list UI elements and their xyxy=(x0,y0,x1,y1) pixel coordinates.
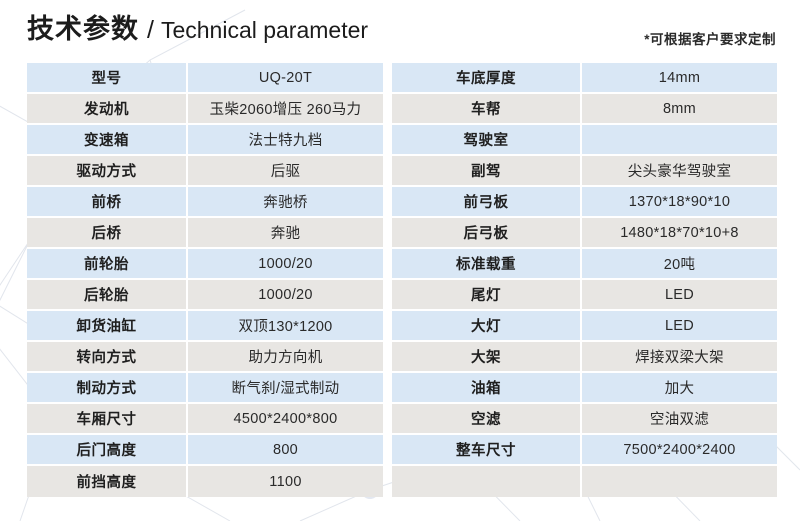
spec-value-cell: LED xyxy=(582,311,777,342)
spec-row: 整车尺寸7500*2400*2400 xyxy=(392,435,777,466)
spec-value-cell: 空油双滤 xyxy=(582,404,777,435)
spec-label-cell: 驱动方式 xyxy=(27,156,188,187)
spec-label-cell: 前桥 xyxy=(27,187,188,218)
spec-table-left-body: 型号UQ-20T发动机玉柴2060增压 260马力变速箱法士特九档驱动方式后驱前… xyxy=(27,63,383,497)
spec-row: 制动方式断气刹/湿式制动 xyxy=(27,373,383,404)
spec-label-cell: 后门高度 xyxy=(27,435,188,466)
spec-value-cell: 1100 xyxy=(188,466,383,497)
spec-label-cell: 后轮胎 xyxy=(27,280,188,311)
spec-value-cell: 1480*18*70*10+8 xyxy=(582,218,777,249)
spec-value-cell: 1000/20 xyxy=(188,249,383,280)
spec-label-cell: 转向方式 xyxy=(27,342,188,373)
spec-value-cell: 8mm xyxy=(582,94,777,125)
spec-row: 标准载重20吨 xyxy=(392,249,777,280)
spec-row: 发动机玉柴2060增压 260马力 xyxy=(27,94,383,125)
spec-value-cell: 14mm xyxy=(582,63,777,94)
spec-value-cell: 断气刹/湿式制动 xyxy=(188,373,383,404)
spec-row: 驱动方式后驱 xyxy=(27,156,383,187)
spec-label-cell: 变速箱 xyxy=(27,125,188,156)
spec-row: 尾灯LED xyxy=(392,280,777,311)
spec-label-cell: 发动机 xyxy=(27,94,188,125)
spec-table-right: 车底厚度14mm车帮8mm驾驶室副驾尖头豪华驾驶室前弓板1370*18*90*1… xyxy=(392,63,777,497)
spec-label-cell: 油箱 xyxy=(392,373,582,404)
spec-row: 后轮胎1000/20 xyxy=(27,280,383,311)
spec-row: 前挡高度1100 xyxy=(27,466,383,497)
spec-row: 后弓板1480*18*70*10+8 xyxy=(392,218,777,249)
spec-label-cell: 标准载重 xyxy=(392,249,582,280)
spec-value-cell: 800 xyxy=(188,435,383,466)
spec-row xyxy=(392,466,777,497)
spec-label-cell: 车厢尺寸 xyxy=(27,404,188,435)
spec-table-right-body: 车底厚度14mm车帮8mm驾驶室副驾尖头豪华驾驶室前弓板1370*18*90*1… xyxy=(392,63,777,497)
spec-label-cell: 副驾 xyxy=(392,156,582,187)
spec-value-cell: 玉柴2060增压 260马力 xyxy=(188,94,383,125)
spec-row: 车帮8mm xyxy=(392,94,777,125)
spec-value-cell: 双顶130*1200 xyxy=(188,311,383,342)
spec-label-cell: 卸货油缸 xyxy=(27,311,188,342)
spec-label-cell xyxy=(392,466,582,497)
spec-row: 副驾尖头豪华驾驶室 xyxy=(392,156,777,187)
spec-label-cell: 整车尺寸 xyxy=(392,435,582,466)
spec-label-cell: 型号 xyxy=(27,63,188,94)
spec-row: 大灯LED xyxy=(392,311,777,342)
spec-label-cell: 制动方式 xyxy=(27,373,188,404)
spec-row: 前弓板1370*18*90*10 xyxy=(392,187,777,218)
spec-row: 车底厚度14mm xyxy=(392,63,777,94)
page-title: 技术参数 / Technical parameter xyxy=(27,16,368,43)
spec-label-cell: 后弓板 xyxy=(392,218,582,249)
customization-note: *可根据客户要求定制 xyxy=(644,28,776,48)
spec-value-cell: 1370*18*90*10 xyxy=(582,187,777,218)
spec-label-cell: 前轮胎 xyxy=(27,249,188,280)
spec-row: 转向方式助力方向机 xyxy=(27,342,383,373)
spec-table-left: 型号UQ-20T发动机玉柴2060增压 260马力变速箱法士特九档驱动方式后驱前… xyxy=(27,63,383,497)
spec-value-cell: 后驱 xyxy=(188,156,383,187)
spec-label-cell: 前挡高度 xyxy=(27,466,188,497)
spec-value-cell: 1000/20 xyxy=(188,280,383,311)
spec-value-cell: 奔驰桥 xyxy=(188,187,383,218)
spec-value-cell: 法士特九档 xyxy=(188,125,383,156)
spec-label-cell: 空滤 xyxy=(392,404,582,435)
spec-label-cell: 后桥 xyxy=(27,218,188,249)
spec-row: 型号UQ-20T xyxy=(27,63,383,94)
spec-row: 变速箱法士特九档 xyxy=(27,125,383,156)
page-header: 技术参数 / Technical parameter *可根据客户要求定制 xyxy=(0,0,800,62)
spec-value-cell: 20吨 xyxy=(582,249,777,280)
spec-label-cell: 大架 xyxy=(392,342,582,373)
page-title-chinese: 技术参数 xyxy=(27,16,139,43)
spec-value-cell: 加大 xyxy=(582,373,777,404)
spec-value-cell: 助力方向机 xyxy=(188,342,383,373)
spec-row: 大架焊接双梁大架 xyxy=(392,342,777,373)
spec-label-cell: 尾灯 xyxy=(392,280,582,311)
spec-value-cell: 焊接双梁大架 xyxy=(582,342,777,373)
spec-value-cell xyxy=(582,125,777,156)
page-title-separator: / xyxy=(147,18,154,43)
spec-row: 后门高度800 xyxy=(27,435,383,466)
spec-label-cell: 车帮 xyxy=(392,94,582,125)
page-title-english: Technical parameter xyxy=(161,19,368,42)
spec-row: 油箱加大 xyxy=(392,373,777,404)
spec-row: 后桥奔驰 xyxy=(27,218,383,249)
spec-value-cell: UQ-20T xyxy=(188,63,383,94)
spec-row: 车厢尺寸4500*2400*800 xyxy=(27,404,383,435)
spec-value-cell xyxy=(582,466,777,497)
spec-row: 前桥奔驰桥 xyxy=(27,187,383,218)
spec-label-cell: 驾驶室 xyxy=(392,125,582,156)
spec-value-cell: LED xyxy=(582,280,777,311)
spec-label-cell: 前弓板 xyxy=(392,187,582,218)
spec-row: 空滤空油双滤 xyxy=(392,404,777,435)
spec-label-cell: 车底厚度 xyxy=(392,63,582,94)
spec-value-cell: 7500*2400*2400 xyxy=(582,435,777,466)
spec-row: 卸货油缸双顶130*1200 xyxy=(27,311,383,342)
spec-value-cell: 4500*2400*800 xyxy=(188,404,383,435)
spec-row: 前轮胎1000/20 xyxy=(27,249,383,280)
spec-label-cell: 大灯 xyxy=(392,311,582,342)
spec-value-cell: 奔驰 xyxy=(188,218,383,249)
spec-row: 驾驶室 xyxy=(392,125,777,156)
spec-value-cell: 尖头豪华驾驶室 xyxy=(582,156,777,187)
